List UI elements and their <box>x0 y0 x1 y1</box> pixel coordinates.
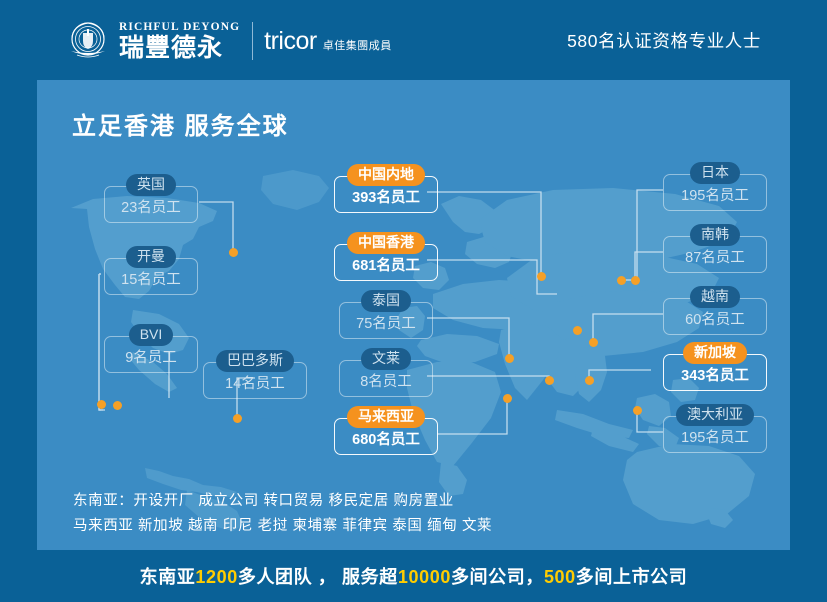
map-dot-uk <box>229 248 238 257</box>
footer-number-companies: 10000 <box>398 567 451 587</box>
info-box-hong-kong[interactable]: 中国香港 681名员工 <box>334 232 438 281</box>
logo-divider <box>252 22 253 60</box>
info-box-uk[interactable]: 英国 23名员工 <box>104 174 198 223</box>
info-box-south-korea[interactable]: 南韩 87名员工 <box>663 224 767 273</box>
info-box-barbados-name: 巴巴多斯 <box>216 350 294 372</box>
map-dot-japan <box>617 276 626 285</box>
map-dot-australia <box>633 406 642 415</box>
partner-brand-subtitle: 卓佳集團成員 <box>323 37 392 53</box>
info-box-japan-name: 日本 <box>690 162 740 184</box>
info-box-australia-name: 澳大利亚 <box>676 404 754 426</box>
footer-seg-2: 多人团队 ， 服务超 <box>238 567 398 587</box>
info-box-vietnam-name: 越南 <box>690 286 740 308</box>
info-box-brunei[interactable]: 文莱 8名员工 <box>339 348 433 397</box>
map-dot-brunei <box>545 376 554 385</box>
footer-seg-4: 多间上市公司 <box>576 567 688 587</box>
footer-number-team: 1200 <box>195 567 237 587</box>
info-box-vietnam[interactable]: 越南 60名员工 <box>663 286 767 335</box>
shield-crest-logo-icon <box>66 19 110 63</box>
info-box-brunei-name: 文莱 <box>361 348 411 370</box>
footer-summary-text: 东南亚1200多人团队 ， 服务超10000多间公司，500多间上市公司 <box>140 563 688 589</box>
info-box-mainland-china[interactable]: 中国内地 393名员工 <box>334 164 438 213</box>
map-dot-caribbean-1 <box>97 400 106 409</box>
brand-name-cn: 瑞豐德永 <box>119 35 240 62</box>
map-dot-malaysia <box>503 394 512 403</box>
header-bar: RICHFUL DEYONG 瑞豐德永 tricor 卓佳集團成員 580名认证… <box>0 0 827 80</box>
footer-bar: 东南亚1200多人团队 ， 服务超10000多间公司，500多间上市公司 <box>0 550 827 602</box>
info-box-australia[interactable]: 澳大利亚 195名员工 <box>663 404 767 453</box>
info-box-singapore[interactable]: 新加坡 343名员工 <box>663 342 767 391</box>
services-line-1: 东南亚：开设开厂 成立公司 转口贸易 移民定居 购房置业 <box>73 489 454 510</box>
map-dot-korea <box>631 276 640 285</box>
partner-brand-name: tricor <box>264 28 317 54</box>
brand-logo: RICHFUL DEYONG 瑞豐德永 tricor 卓佳集團成員 <box>66 19 392 63</box>
map-dot-mainland <box>537 272 546 281</box>
footer-number-listed: 500 <box>544 567 576 587</box>
footer-seg-1: 东南亚 <box>140 567 196 587</box>
info-box-singapore-name: 新加坡 <box>683 342 747 364</box>
info-box-cayman-name: 开曼 <box>126 246 176 268</box>
map-dot-vietnam <box>589 338 598 347</box>
brand-name-en: RICHFUL DEYONG <box>119 21 240 33</box>
info-box-cayman[interactable]: 开曼 15名员工 <box>104 246 198 295</box>
partner-brand: tricor 卓佳集團成員 <box>264 28 392 54</box>
brand-wordmark: RICHFUL DEYONG 瑞豐德永 <box>119 21 240 62</box>
certified-professionals-text: 580名认证资格专业人士 <box>567 0 761 80</box>
infographic-root: RICHFUL DEYONG 瑞豐德永 tricor 卓佳集團成員 580名认证… <box>0 0 827 602</box>
info-box-thailand[interactable]: 泰国 75名员工 <box>339 290 433 339</box>
map-dot-singapore <box>585 376 594 385</box>
map-dot-caribbean-2 <box>113 401 122 410</box>
info-box-malaysia[interactable]: 马来西亚 680名员工 <box>334 406 438 455</box>
services-line-2: 马来西亚 新加坡 越南 印尼 老挝 柬埔寨 菲律宾 泰国 缅甸 文莱 <box>73 514 492 535</box>
info-box-bvi[interactable]: BVI 9名员工 <box>104 324 198 373</box>
map-dot-hongkong <box>573 326 582 335</box>
info-box-thailand-name: 泰国 <box>361 290 411 312</box>
info-box-barbados[interactable]: 巴巴多斯 14名员工 <box>203 350 307 399</box>
footer-seg-3: 多间公司， <box>451 567 544 587</box>
info-box-south-korea-name: 南韩 <box>690 224 740 246</box>
map-dot-barbados <box>233 414 242 423</box>
info-box-uk-name: 英国 <box>126 174 176 196</box>
info-box-mainland-china-name: 中国内地 <box>347 164 425 186</box>
info-box-hong-kong-name: 中国香港 <box>347 232 425 254</box>
info-box-bvi-name: BVI <box>129 324 174 346</box>
info-box-japan[interactable]: 日本 195名员工 <box>663 162 767 211</box>
info-box-malaysia-name: 马来西亚 <box>347 406 425 428</box>
map-dot-thailand <box>505 354 514 363</box>
map-panel: 立足香港 服务全球 <box>37 80 790 550</box>
